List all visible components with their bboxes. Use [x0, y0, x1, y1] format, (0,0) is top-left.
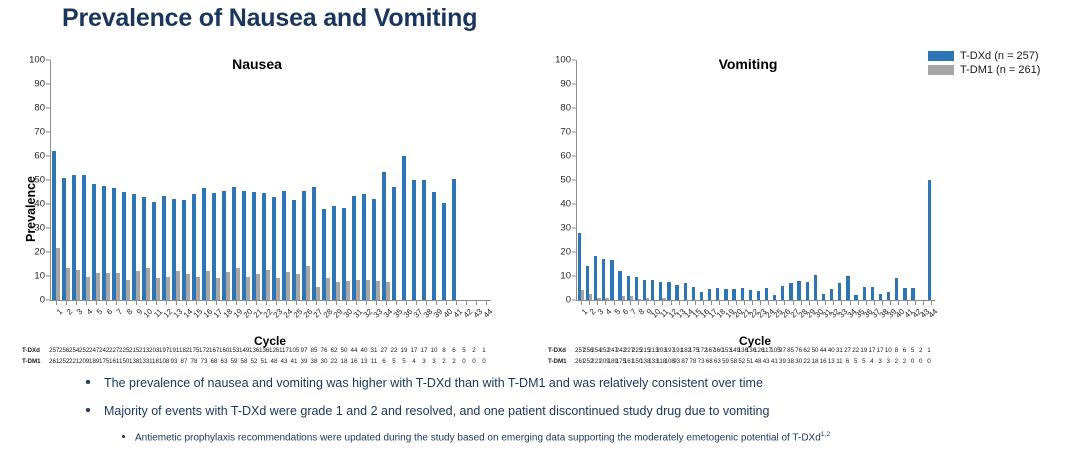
bar-tdxd	[724, 289, 727, 300]
bar-group	[764, 60, 772, 300]
n-at-risk-value: 43	[762, 358, 770, 365]
x-tick-mark	[276, 301, 277, 305]
bar-tdm1	[316, 287, 320, 300]
bar-tdxd	[602, 259, 605, 300]
n-at-risk-value: 138	[129, 358, 139, 365]
plot-area-nausea: 0102030405060708090100123456789101112131…	[22, 52, 534, 314]
y-tick-label: 90	[560, 79, 571, 90]
y-tick-label: 30	[560, 223, 571, 234]
n-at-risk-value: 191	[169, 347, 179, 354]
bar-tdm1	[346, 281, 350, 300]
n-at-risk-value: 52	[738, 358, 746, 365]
x-tick-mark	[776, 301, 777, 305]
bar-group	[715, 60, 723, 300]
n-at-risk-value: 22	[389, 347, 399, 354]
bar-group	[91, 60, 101, 300]
n-at-risk-value: 2	[439, 358, 449, 365]
bar-group	[251, 60, 261, 300]
y-tick-label: 100	[29, 55, 45, 66]
bar-group	[351, 60, 361, 300]
n-at-risk-value: 6	[844, 358, 852, 365]
n-at-risk-value: 161	[109, 358, 119, 365]
n-at-risk-value: 0	[469, 358, 479, 365]
n-at-risk-value: 117	[762, 347, 770, 354]
n-at-risk-value: 161	[624, 358, 632, 365]
n-at-risk-value: 172	[697, 347, 705, 354]
n-at-risk-value: 22	[803, 358, 811, 365]
x-tick-mark	[226, 301, 227, 305]
n-at-risk-value: 189	[89, 358, 99, 365]
x-axis-ticks: 1234567891011121314151617181920212223242…	[577, 301, 935, 333]
bar-tdxd	[757, 291, 760, 300]
x-tick-mark	[306, 301, 307, 305]
slide-root: Prevalence of Nausea and Vomiting T-DXd …	[0, 0, 1080, 467]
bar-group	[780, 60, 788, 300]
bar-tdm1	[386, 282, 390, 300]
n-at-risk-value: 126	[269, 347, 279, 354]
n-at-risk-value: 68	[705, 358, 713, 365]
bar-group	[740, 60, 748, 300]
bar-group	[723, 60, 731, 300]
bar-group	[610, 60, 618, 300]
bar-group	[281, 60, 291, 300]
bullet-dot-icon	[86, 380, 90, 384]
x-tick-mark	[833, 301, 834, 305]
bar-tdm1	[96, 273, 100, 300]
bar-group	[650, 60, 658, 300]
n-at-risk-value: 6	[449, 347, 459, 354]
x-tick-mark	[126, 301, 127, 305]
n-at-risk-value: 252	[79, 347, 89, 354]
n-at-risk-value: 1	[925, 347, 933, 354]
n-at-risk-value: 8	[892, 347, 900, 354]
n-at-risk-value: 1	[479, 347, 489, 354]
bar-group	[870, 60, 878, 300]
n-at-risk-value: 242	[99, 347, 109, 354]
n-at-risk-value: 73	[697, 358, 705, 365]
bar-group	[231, 60, 241, 300]
n-at-risk-value: 68	[209, 358, 219, 365]
n-at-risk-label-tdm1: T-DM1	[22, 358, 41, 365]
n-at-risk-value: 78	[689, 358, 697, 365]
x-tick-mark	[654, 301, 655, 305]
n-at-risk-value: 5	[459, 347, 469, 354]
x-tick-mark	[687, 301, 688, 305]
n-at-risk-value: 85	[787, 347, 795, 354]
bar-tdxd	[797, 281, 800, 300]
bar-tdm1	[326, 278, 330, 300]
n-at-risk-value: 136	[738, 347, 746, 354]
n-at-risk-value: 118	[149, 358, 159, 365]
n-at-risk-value: 149	[239, 347, 249, 354]
x-tick-mark	[166, 301, 167, 305]
bar-group	[311, 60, 321, 300]
n-at-risk-value: 97	[778, 347, 786, 354]
bar-group	[51, 60, 61, 300]
n-at-risk-value: 4	[868, 358, 876, 365]
bar-group	[141, 60, 151, 300]
n-at-risk-value: 41	[289, 358, 299, 365]
n-at-risk-value: 8	[439, 347, 449, 354]
n-at-risk-value: 247	[608, 347, 616, 354]
bar-tdm1	[206, 271, 210, 300]
n-at-risk-value: 62	[803, 347, 811, 354]
bar-group	[271, 60, 281, 300]
bar-group	[241, 60, 251, 300]
n-at-risk-value: 2	[449, 358, 459, 365]
n-at-risk-value: 16	[819, 358, 827, 365]
n-at-risk-value: 39	[778, 358, 786, 365]
x-tick-mark	[679, 301, 680, 305]
bars-container	[51, 60, 491, 300]
x-tick-mark	[890, 301, 891, 305]
n-at-risk-value: 73	[199, 358, 209, 365]
bar-group	[181, 60, 191, 300]
n-at-risk-value: 149	[730, 347, 738, 354]
bar-tdm1	[186, 274, 190, 300]
bullet-dot-icon	[86, 408, 90, 412]
bar-tdxd	[716, 288, 719, 300]
y-tick-label: 20	[34, 247, 45, 258]
bar-tdxd	[911, 288, 914, 300]
n-at-risk-value: 225	[119, 347, 129, 354]
x-tick-mark	[236, 301, 237, 305]
x-tick-mark	[744, 301, 745, 305]
x-tick-mark	[256, 301, 257, 305]
bar-tdxd	[895, 278, 898, 300]
bar-group	[626, 60, 634, 300]
bar-tdxd	[610, 260, 613, 300]
bullet-item-level1: Majority of events with T-DXd were grade…	[0, 404, 1080, 420]
n-at-risk-value: 256	[59, 347, 69, 354]
n-at-risk-value: 5	[909, 347, 917, 354]
n-at-risk-value: 31	[835, 347, 843, 354]
y-tick-label: 60	[560, 151, 571, 162]
bullet-item-level2: Antiemetic prophylaxis recommendations w…	[0, 431, 1080, 444]
x-tick-mark	[96, 301, 97, 305]
bullet-text: Majority of events with T-DXd were grade…	[104, 404, 769, 418]
n-at-risk-value: 31	[369, 347, 379, 354]
bar-group	[431, 60, 441, 300]
y-tick-label: 80	[34, 103, 45, 114]
n-at-risk-value: 44	[349, 347, 359, 354]
page-title: Prevalence of Nausea and Vomiting	[62, 4, 477, 33]
x-tick-mark	[316, 301, 317, 305]
x-tick-mark	[671, 301, 672, 305]
n-at-risk-value: 87	[179, 358, 189, 365]
n-at-risk-value: 182	[681, 347, 689, 354]
n-at-risk-label-tdm1: T-DM1	[548, 358, 567, 365]
n-at-risk-value: 0	[925, 358, 933, 365]
bar-tdm1	[236, 268, 240, 300]
bar-tdm1	[366, 280, 370, 300]
n-at-risk-table: T-DXd25725625425224724222722521521320319…	[22, 347, 496, 369]
n-at-risk-value: 13	[827, 358, 835, 365]
bar-tdm1	[216, 278, 220, 300]
n-at-risk-value: 51	[746, 358, 754, 365]
n-at-risk-value: 38	[309, 358, 319, 365]
bar-tdm1	[581, 290, 584, 300]
x-tick-mark	[456, 301, 457, 305]
bar-group	[642, 60, 650, 300]
x-tick-mark	[630, 301, 631, 305]
y-tick-label: 0	[40, 295, 45, 306]
bar-group	[361, 60, 371, 300]
y-tick-label: 0	[566, 295, 571, 306]
x-tick-mark	[106, 301, 107, 305]
bar-tdm1	[166, 277, 170, 300]
bar-tdm1	[66, 268, 70, 300]
bar-group	[829, 60, 837, 300]
x-tick-mark	[466, 301, 467, 305]
n-at-risk-value: 197	[159, 347, 169, 354]
y-tick-label: 50	[560, 175, 571, 186]
bar-group	[658, 60, 666, 300]
n-at-risk-value: 97	[299, 347, 309, 354]
bar-tdm1	[156, 278, 160, 300]
n-at-risk-value: 175	[99, 358, 109, 365]
x-tick-mark	[825, 301, 826, 305]
bar-group	[675, 60, 683, 300]
n-at-risk-value: 257	[49, 347, 59, 354]
x-tick-mark	[416, 301, 417, 305]
n-at-risk-value: 2	[917, 347, 925, 354]
bar-tdxd	[887, 292, 890, 300]
n-at-risk-table: T-DXd25725625425224724222722521521320319…	[548, 347, 940, 369]
bar-group	[291, 60, 301, 300]
bar-tdxd	[675, 285, 678, 300]
legend-label-tdxd: T-DXd (n = 257)	[960, 50, 1039, 62]
x-tick-mark	[156, 301, 157, 305]
x-tick-mark	[176, 301, 177, 305]
bar-group	[683, 60, 691, 300]
n-at-risk-value: 242	[616, 347, 624, 354]
n-at-risk-value: 133	[139, 358, 149, 365]
n-at-risk-value: 63	[713, 358, 721, 365]
n-at-risk-value: 221	[591, 358, 599, 365]
n-at-risk-value: 93	[169, 358, 179, 365]
bar-group	[878, 60, 886, 300]
bar-tdxd	[741, 288, 744, 300]
bar-tdxd	[684, 283, 687, 300]
n-at-risk-value: 22	[852, 347, 860, 354]
x-tick-mark	[695, 301, 696, 305]
x-tick-mark	[614, 301, 615, 305]
bar-group	[461, 60, 471, 300]
bar-group	[341, 60, 351, 300]
bar-tdxd	[854, 295, 857, 300]
bar-tdxd	[749, 290, 752, 300]
y-tick-label: 60	[34, 151, 45, 162]
x-tick-mark	[662, 301, 663, 305]
bar-tdxd	[667, 282, 670, 300]
bar-group	[837, 60, 845, 300]
bar-tdm1	[106, 273, 110, 300]
n-at-risk-value: 136	[259, 347, 269, 354]
bar-tdm1	[176, 271, 180, 300]
x-tick-mark	[386, 301, 387, 305]
n-at-risk-value: 136	[249, 347, 259, 354]
n-at-risk-value: 227	[109, 347, 119, 354]
n-at-risk-value: 2	[900, 358, 908, 365]
bar-tdxd	[879, 294, 882, 300]
bullet-text: The prevalence of nausea and vomiting wa…	[104, 376, 763, 390]
n-at-risk-value: 105	[289, 347, 299, 354]
bar-group	[161, 60, 171, 300]
n-at-risk-value: 261	[575, 358, 583, 365]
n-at-risk-value: 18	[811, 358, 819, 365]
n-at-risk-value: 0	[479, 358, 489, 365]
bar-tdxd	[692, 287, 695, 300]
x-tick-mark	[146, 301, 147, 305]
bar-tdm1	[276, 278, 280, 300]
bar-group	[81, 60, 91, 300]
n-at-risk-value: 153	[229, 347, 239, 354]
bar-group	[667, 60, 675, 300]
bar-tdm1	[256, 274, 260, 300]
bar-group	[71, 60, 81, 300]
n-at-risk-value: 175	[616, 358, 624, 365]
n-at-risk-value: 252	[583, 358, 591, 365]
bar-group	[381, 60, 391, 300]
n-at-risk-value: 2	[892, 358, 900, 365]
n-at-risk-value: 5	[399, 358, 409, 365]
x-tick-mark	[809, 301, 810, 305]
x-tick-mark	[589, 301, 590, 305]
y-tick-label: 20	[560, 247, 571, 258]
bar-group	[691, 60, 699, 300]
x-tick-mark	[286, 301, 287, 305]
n-at-risk-value: 213	[139, 347, 149, 354]
n-at-risk-value: 105	[770, 347, 778, 354]
y-tick-label: 80	[560, 103, 571, 114]
n-at-risk-value: 76	[319, 347, 329, 354]
n-at-risk-value: 5	[389, 358, 399, 365]
n-at-risk-value: 167	[705, 347, 713, 354]
bar-group	[902, 60, 910, 300]
bar-group	[805, 60, 813, 300]
bar-tdxd	[773, 295, 776, 300]
bar-tdxd	[846, 276, 849, 300]
x-tick-mark	[719, 301, 720, 305]
bar-tdm1	[597, 298, 600, 300]
x-tick-mark	[116, 301, 117, 305]
bar-group	[618, 60, 626, 300]
bar-tdm1	[662, 298, 665, 300]
n-at-risk-value: 40	[359, 347, 369, 354]
x-tick-mark	[793, 301, 794, 305]
bullet-dot-icon	[122, 435, 125, 438]
bar-group	[481, 60, 491, 300]
x-tick-mark	[850, 301, 851, 305]
bar-tdxd	[392, 187, 396, 300]
n-at-risk-value: 19	[399, 347, 409, 354]
chart-panel-nausea: Nausea Prevalence 0102030405060708090100…	[22, 52, 534, 314]
bar-tdxd	[789, 283, 792, 300]
x-tick-mark	[736, 301, 737, 305]
x-tick-mark	[336, 301, 337, 305]
bar-tdm1	[356, 280, 360, 300]
bar-tdm1	[306, 266, 310, 300]
n-at-risk-value: 254	[591, 347, 599, 354]
n-at-risk-row-tdm1: T-DM126125222120918917516115013813311810…	[548, 358, 940, 369]
x-tick-mark	[882, 301, 883, 305]
n-at-risk-value: 160	[713, 347, 721, 354]
x-tick-mark	[752, 301, 753, 305]
n-at-risk-value: 150	[119, 358, 129, 365]
bar-tdxd	[594, 256, 597, 300]
x-tick-mark	[136, 301, 137, 305]
x-tick-mark	[366, 301, 367, 305]
x-tick-mark	[866, 301, 867, 305]
x-tick-mark	[711, 301, 712, 305]
x-tick-mark	[406, 301, 407, 305]
y-tick-label: 50	[34, 175, 45, 186]
n-at-risk-value: 18	[339, 358, 349, 365]
n-at-risk-value: 50	[339, 347, 349, 354]
x-tick-mark	[605, 301, 606, 305]
n-at-risk-value: 118	[656, 358, 664, 365]
n-at-risk-value: 175	[689, 347, 697, 354]
n-at-risk-value: 30	[319, 358, 329, 365]
bar-group	[748, 60, 756, 300]
n-at-risk-value: 44	[819, 347, 827, 354]
n-at-risk-value: 13	[359, 358, 369, 365]
y-tick-label: 40	[560, 199, 571, 210]
x-tick-mark	[841, 301, 842, 305]
bar-group	[421, 60, 431, 300]
x-tick-mark	[76, 301, 77, 305]
bar-tdm1	[126, 280, 130, 300]
n-at-risk-value: 85	[309, 347, 319, 354]
n-at-risk-value: 0	[909, 358, 917, 365]
n-at-risk-value: 41	[770, 358, 778, 365]
bar-tdxd	[412, 180, 416, 300]
bar-tdxd	[651, 280, 654, 300]
y-tick-label: 40	[34, 199, 45, 210]
legend-label-tdm1: T-DM1 (n = 261)	[960, 64, 1040, 76]
bar-tdxd	[402, 156, 406, 300]
x-tick-mark	[931, 301, 932, 305]
n-at-risk-value: 3	[429, 358, 439, 365]
x-tick-mark	[581, 301, 582, 305]
x-tick-mark	[266, 301, 267, 305]
bar-group	[886, 60, 894, 300]
n-at-risk-value: 153	[721, 347, 729, 354]
n-at-risk-value: 87	[681, 358, 689, 365]
bar-tdm1	[56, 248, 60, 300]
x-axis-title: Cycle	[50, 334, 490, 348]
bar-group	[401, 60, 411, 300]
x-tick-mark	[436, 301, 437, 305]
n-at-risk-value: 191	[673, 347, 681, 354]
bar-group	[821, 60, 829, 300]
bar-tdxd	[422, 180, 426, 300]
n-at-risk-value: 247	[89, 347, 99, 354]
n-at-risk-value: 172	[199, 347, 209, 354]
bar-group	[772, 60, 780, 300]
bar-tdxd	[432, 192, 436, 300]
bar-tdxd	[830, 289, 833, 300]
n-at-risk-value: 19	[860, 347, 868, 354]
x-tick-mark	[760, 301, 761, 305]
x-axis-ticks: 1234567891011121314151617181920212223242…	[51, 301, 491, 333]
n-at-risk-value: 108	[159, 358, 169, 365]
x-tick-mark	[246, 301, 247, 305]
n-at-risk-label-tdxd: T-DXd	[22, 347, 40, 354]
n-at-risk-value: 78	[189, 358, 199, 365]
n-at-risk-value: 252	[59, 358, 69, 365]
